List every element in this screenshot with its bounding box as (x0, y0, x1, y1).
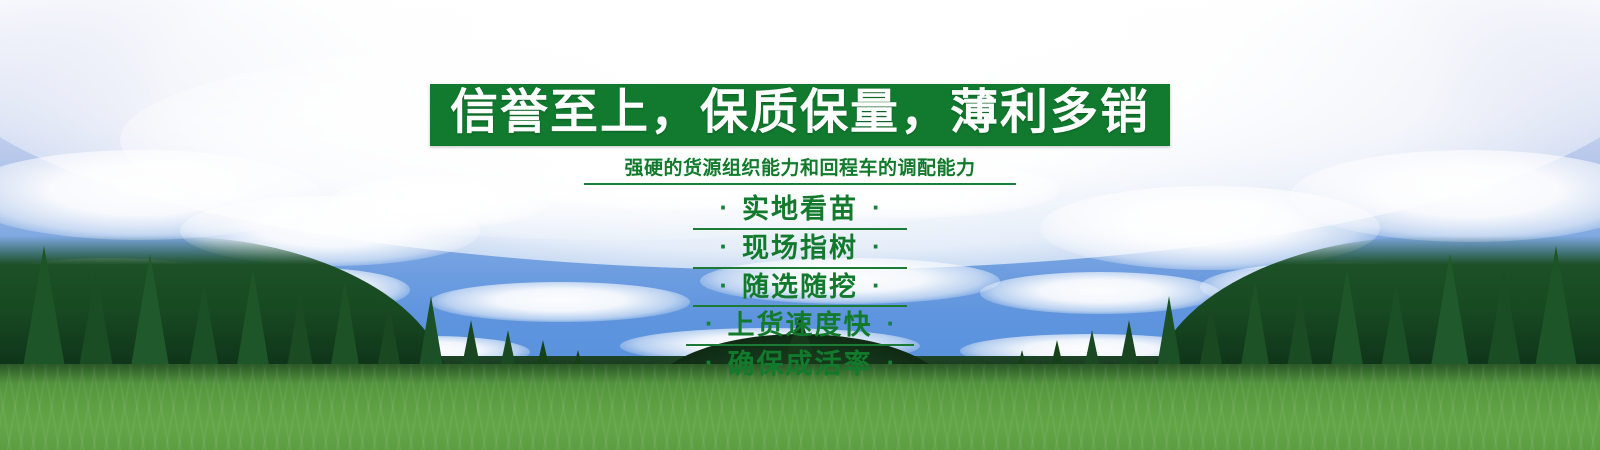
headline-banner-bar: 信誉至上，保质保量，薄利多销 (430, 84, 1170, 146)
bullet-dot-right: · (887, 310, 896, 336)
banner-subtitle: 强硬的货源组织能力和回程车的调配能力 (584, 153, 1016, 185)
feature-list: ·实地看苗· ·现场指树· ·随选随挖· ·上货速度快· ·确保成活率· (0, 191, 1600, 383)
bullet-dot-left: · (719, 272, 728, 298)
feature-item-5: ·确保成活率· (686, 346, 914, 383)
bullet-dot-right: · (872, 272, 881, 298)
bullet-dot-left: · (705, 349, 714, 375)
feature-label: 现场指树 (728, 233, 872, 265)
bullet-dot-right: · (872, 194, 881, 220)
feature-label: 确保成活率 (714, 349, 887, 381)
bullet-dot-left: · (719, 194, 728, 220)
bullet-dot-right: · (872, 233, 881, 259)
feature-item-3: ·随选随挖· (693, 269, 907, 308)
bullet-dot-left: · (705, 310, 714, 336)
feature-item-4: ·上货速度快· (686, 307, 914, 346)
feature-label: 实地看苗 (728, 194, 872, 226)
bullet-dot-right: · (887, 349, 896, 375)
feature-label: 随选随挖 (728, 272, 872, 304)
bullet-dot-left: · (719, 233, 728, 259)
banner-content: 信誉至上，保质保量，薄利多销 强硬的货源组织能力和回程车的调配能力 ·实地看苗·… (0, 0, 1600, 383)
promo-banner: 信誉至上，保质保量，薄利多销 强硬的货源组织能力和回程车的调配能力 ·实地看苗·… (0, 0, 1600, 450)
banner-headline: 信誉至上，保质保量，薄利多销 (450, 88, 1150, 138)
feature-label: 上货速度快 (714, 310, 887, 342)
feature-item-1: ·实地看苗· (693, 191, 907, 230)
feature-item-2: ·现场指树· (693, 230, 907, 269)
